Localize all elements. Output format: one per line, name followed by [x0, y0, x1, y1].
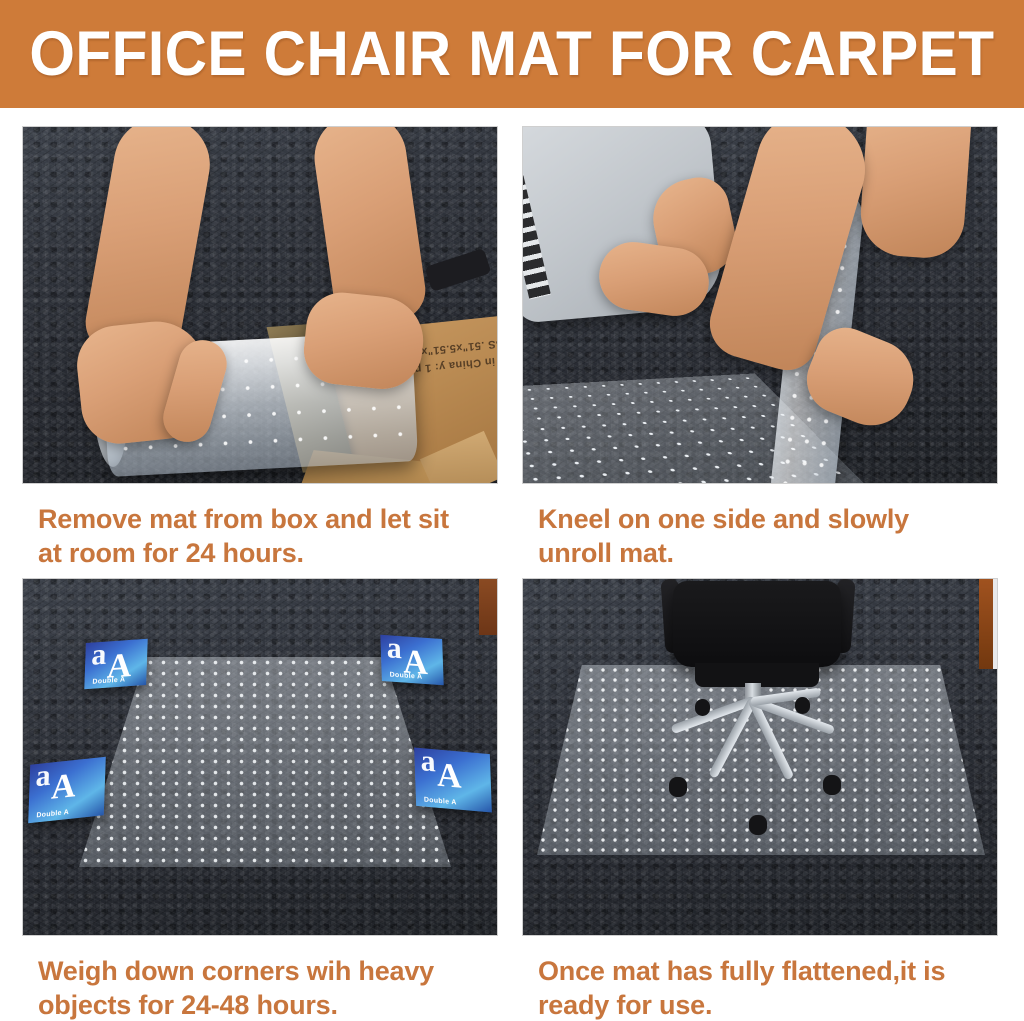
chair-caster-2: [749, 815, 767, 835]
step-photo-3: a A Double A a A Double A a A Double A a…: [22, 578, 498, 936]
shorts-stripe: [522, 162, 551, 299]
step-caption-2: Kneel on one side and slowly unroll mat.: [522, 502, 998, 571]
paper-ream-top-left: a A Double A: [84, 639, 147, 690]
paper-ream-top-right: a A Double A: [380, 635, 443, 686]
ream-logo-a-upper: A: [436, 761, 461, 791]
steps-grid: de in China y: 1 pc 11.02/9.92 LBS .51"x…: [22, 126, 1000, 1006]
ream-logo-a-lower: a: [386, 636, 402, 662]
chair-caster-4: [695, 699, 710, 716]
wood-trim-4: [979, 579, 993, 669]
step-caption-1-line1: Remove mat from box and let sit: [38, 502, 494, 536]
step-caption-4-line1: Once mat has fully flattened,it is: [538, 954, 994, 988]
step-card-4: Once mat has fully flattened,it is ready…: [522, 578, 998, 1021]
infographic-page: OFFICE CHAIR MAT FOR CARPET de in China …: [0, 0, 1024, 1021]
right-leg: [858, 126, 972, 260]
step-caption-1: Remove mat from box and let sit at room …: [22, 502, 498, 571]
ream-logo-a-lower: a: [35, 764, 51, 790]
chair-caster-5: [795, 697, 810, 714]
step-caption-4-line2: ready for use.: [538, 988, 994, 1021]
step-caption-4: Once mat has fully flattened,it is ready…: [522, 954, 998, 1021]
ream-logo-a-upper: A: [51, 772, 76, 802]
ream-logo-a-lower: a: [420, 749, 436, 775]
header-banner: OFFICE CHAIR MAT FOR CARPET: [0, 0, 1024, 108]
step-card-3: a A Double A a A Double A a A Double A a…: [22, 578, 498, 1021]
step-caption-3-line2: objects for 24-48 hours.: [38, 988, 494, 1021]
ream-brand-label: Double A: [390, 671, 423, 680]
step-caption-2-line1: Kneel on one side and slowly: [538, 502, 994, 536]
step-card-1: de in China y: 1 pc 11.02/9.92 LBS .51"x…: [22, 126, 498, 571]
step-card-2: Kneel on one side and slowly unroll mat.: [522, 126, 998, 571]
page-title: OFFICE CHAIR MAT FOR CARPET: [29, 23, 994, 86]
step-photo-1: de in China y: 1 pc 11.02/9.92 LBS .51"x…: [22, 126, 498, 484]
paper-ream-bottom-left: a A Double A: [28, 757, 106, 823]
chair-seat: [673, 581, 841, 667]
step-photo-4: [522, 578, 998, 936]
ream-logo-a-lower: a: [91, 643, 107, 669]
chair-caster-3: [823, 775, 841, 795]
paper-ream-bottom-right: a A Double A: [414, 747, 492, 812]
chair-caster-1: [669, 777, 687, 797]
wood-trim-3: [479, 579, 497, 635]
step-caption-2-line2: unroll mat.: [538, 536, 994, 570]
ream-brand-label: Double A: [424, 797, 457, 807]
step-caption-3-line1: Weigh down corners wih heavy: [38, 954, 494, 988]
step-photo-2: [522, 126, 998, 484]
step-caption-1-line2: at room for 24 hours.: [38, 536, 494, 570]
ream-brand-label: Double A: [36, 809, 69, 820]
step-caption-3: Weigh down corners wih heavy objects for…: [22, 954, 498, 1021]
